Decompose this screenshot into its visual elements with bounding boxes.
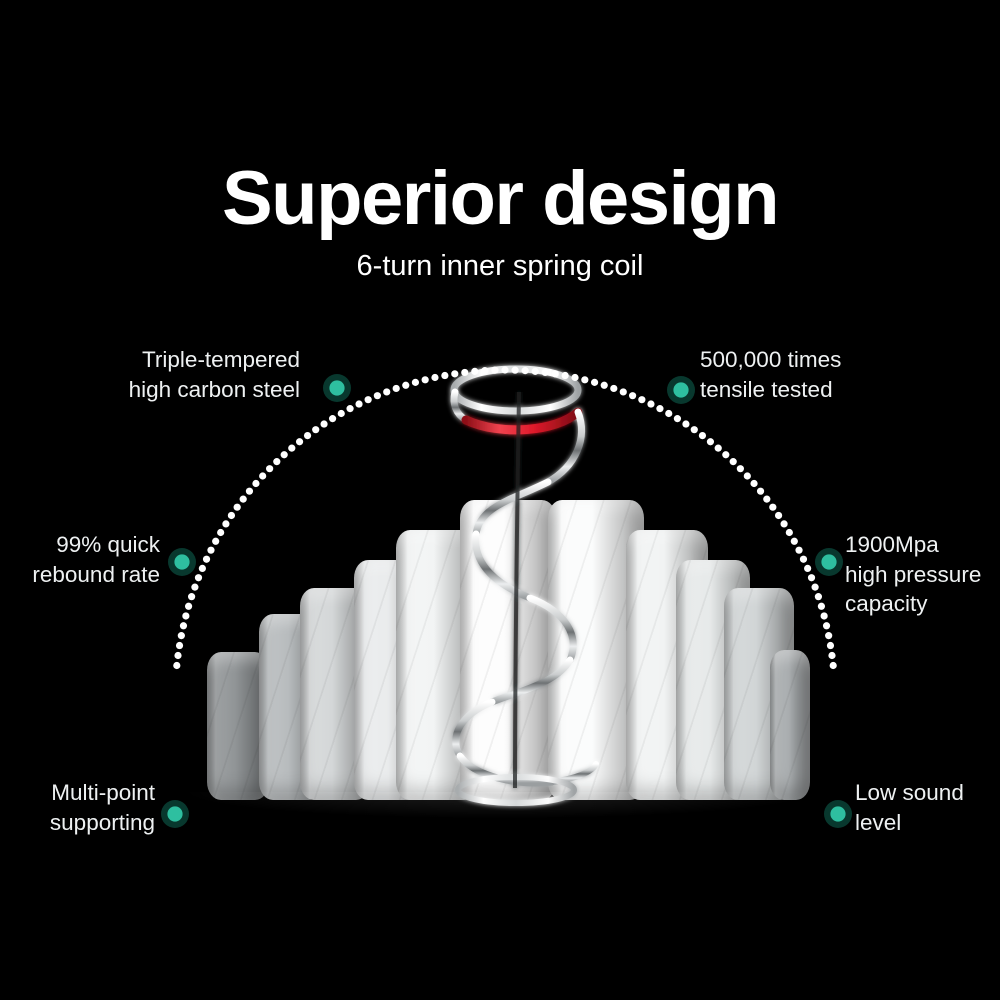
callout-label-low-sound-level: Low sound level [855,778,1000,837]
page-subtitle: 6-turn inner spring coil [0,250,1000,283]
callout-label-pressure-capacity: 1900Mpa high pressure capacity [845,530,1000,619]
callout-label-multi-point-supporting: Multi-point supporting [0,778,155,837]
heading-block: Superior design 6-turn inner spring coil [0,160,1000,283]
inner-spring-coil [0,0,1000,1000]
promo-graphic: Superior design 6-turn inner spring coil… [0,0,1000,1000]
page-title: Superior design [0,160,1000,238]
callout-label-rebound-rate: 99% quick rebound rate [0,530,160,589]
callout-label-tensile-tested: 500,000 times tensile tested [700,345,935,404]
product-illustration [0,0,1000,1000]
callout-label-triple-tempered-steel: Triple-tempered high carbon steel [70,345,300,404]
